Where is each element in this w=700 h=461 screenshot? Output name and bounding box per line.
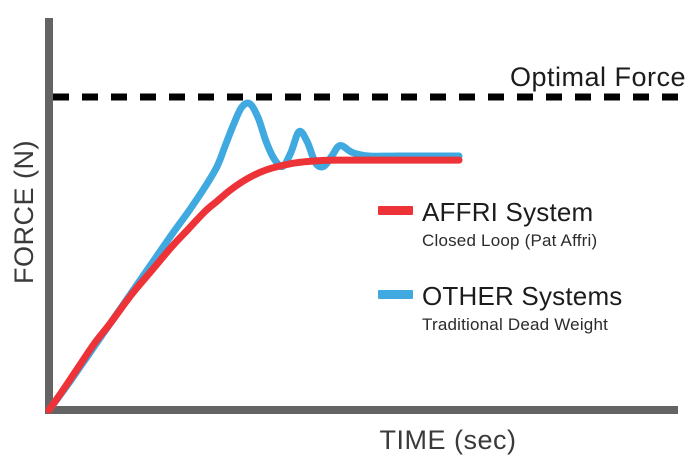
y-axis-line	[45, 18, 53, 414]
optimal-force-label: Optimal Force	[510, 62, 686, 92]
legend-label-other: OTHER Systems	[422, 281, 623, 311]
legend-entry-affri[interactable]: AFFRI System Closed Loop (Pat Affri)	[378, 197, 597, 250]
force-vs-time-chart: FORCE (N) TIME (sec) Optimal Force AFFRI…	[0, 0, 700, 461]
legend-swatch-affri	[378, 206, 413, 215]
x-axis-line	[45, 406, 678, 414]
legend-sublabel-affri: Closed Loop (Pat Affri)	[422, 231, 597, 250]
series-line-other-systems	[49, 103, 459, 410]
x-axis-label: TIME (sec)	[380, 425, 517, 455]
legend-entry-other[interactable]: OTHER Systems Traditional Dead Weight	[378, 281, 623, 334]
legend-label-affri: AFFRI System	[422, 197, 593, 227]
legend-sublabel-other: Traditional Dead Weight	[422, 315, 608, 334]
legend-swatch-other	[378, 290, 413, 299]
chart-page: FORCE (N) TIME (sec) Optimal Force AFFRI…	[0, 0, 700, 461]
y-axis-label: FORCE (N)	[9, 140, 39, 284]
series-line-affri-system	[49, 160, 459, 410]
